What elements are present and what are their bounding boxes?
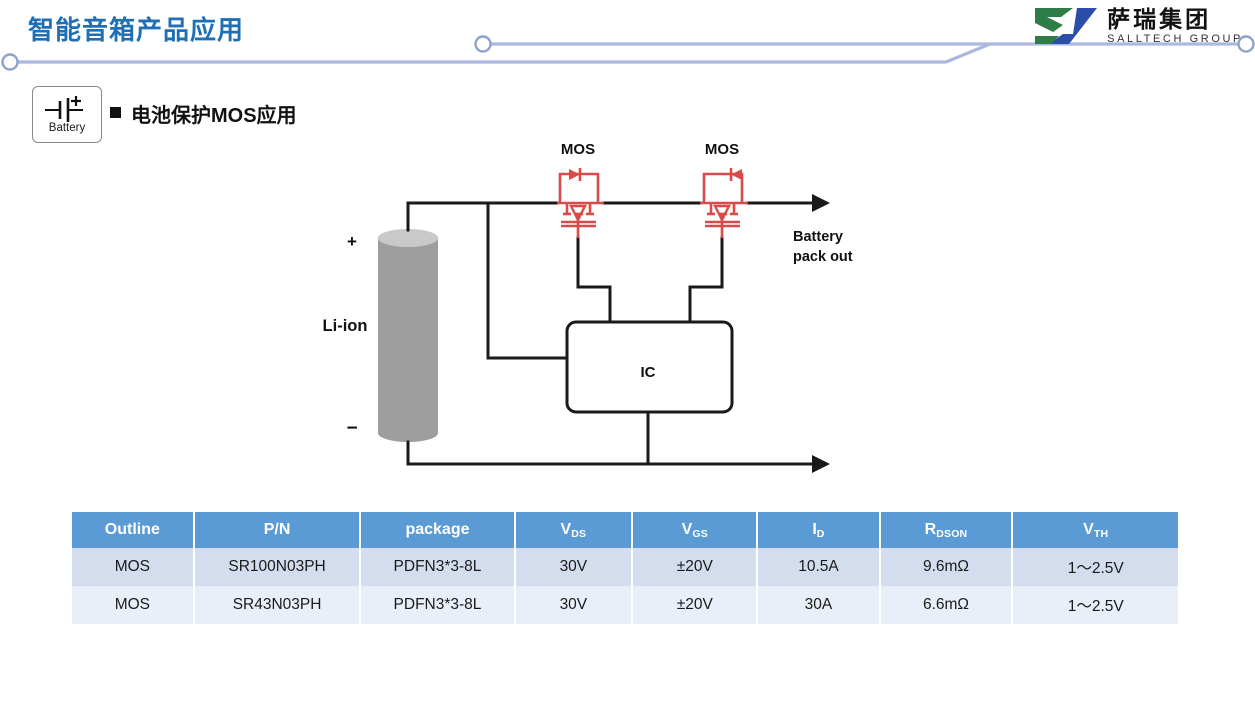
output-arrowhead-bottom [812, 455, 830, 473]
salltech-logo-mark [1033, 6, 1099, 46]
column-header-pn: P/N [195, 512, 362, 548]
cell-pn: SR43N03PH [195, 586, 362, 624]
column-header-id: ID [758, 512, 880, 548]
cell-rdson: 9.6mΩ [881, 548, 1014, 586]
cell-package: PDFN3*3-8L [361, 586, 515, 624]
cell-vds: 30V [516, 586, 634, 624]
table-row: MOS SR43N03PH PDFN3*3-8L 30V ±20V 30A 6.… [72, 586, 1178, 624]
battery-cell-icon [43, 96, 91, 124]
cell-vgs: ±20V [633, 548, 758, 586]
cell-package: PDFN3*3-8L [361, 548, 515, 586]
mos-spec-table: Outline P/N package VDS VGS ID RDSON VTH… [72, 512, 1178, 624]
mos2-body-diode-icon [731, 168, 742, 181]
cell-id: 10.5A [758, 548, 880, 586]
battery-type-label: Li-ion [323, 317, 368, 335]
battery-pack-out-label-line1: Battery [793, 229, 843, 245]
column-header-package: package [361, 512, 515, 548]
column-header-outline: Outline [72, 512, 195, 548]
company-logo: 萨瑞集团 SALLTECH GROUP [1033, 4, 1243, 48]
battery-protection-schematic: + − Li-ion IC [0, 130, 1255, 490]
cell-vgs: ±20V [633, 586, 758, 624]
logo-english-name: SALLTECH GROUP [1107, 34, 1243, 45]
mos1-label: MOS [561, 141, 595, 158]
table-header-row: Outline P/N package VDS VGS ID RDSON VTH [72, 512, 1178, 548]
column-header-vds: VDS [516, 512, 634, 548]
li-ion-battery-symbol [378, 229, 438, 442]
section-title: 电池保护MOS应用 [131, 99, 297, 128]
column-header-rdson: RDSON [881, 512, 1014, 548]
output-arrowhead-top [812, 194, 830, 212]
cell-outline: MOS [72, 548, 195, 586]
ic-label: IC [641, 364, 656, 381]
table-row: MOS SR100N03PH PDFN3*3-8L 30V ±20V 10.5A… [72, 548, 1178, 586]
battery-plus-label: + [347, 232, 357, 251]
cell-pn: SR100N03PH [195, 548, 362, 586]
section-bullet-icon [110, 107, 121, 118]
battery-pack-out-label-line2: pack out [793, 249, 853, 265]
logo-chinese-name: 萨瑞集团 [1107, 8, 1243, 31]
cell-rdson: 6.6mΩ [881, 586, 1014, 624]
cell-vth: 1～2.5V [1013, 586, 1178, 624]
column-header-vgs: VGS [633, 512, 758, 548]
cell-outline: MOS [72, 586, 195, 624]
cell-vth: 1～2.5V [1013, 548, 1178, 586]
column-header-vth: VTH [1013, 512, 1178, 548]
page-title: 智能音箱产品应用 [28, 10, 244, 47]
cell-id: 30A [758, 586, 880, 624]
battery-minus-label: − [346, 418, 357, 439]
mos2-label: MOS [705, 141, 739, 158]
cell-vds: 30V [516, 548, 634, 586]
mos1-body-diode-icon [569, 168, 580, 181]
